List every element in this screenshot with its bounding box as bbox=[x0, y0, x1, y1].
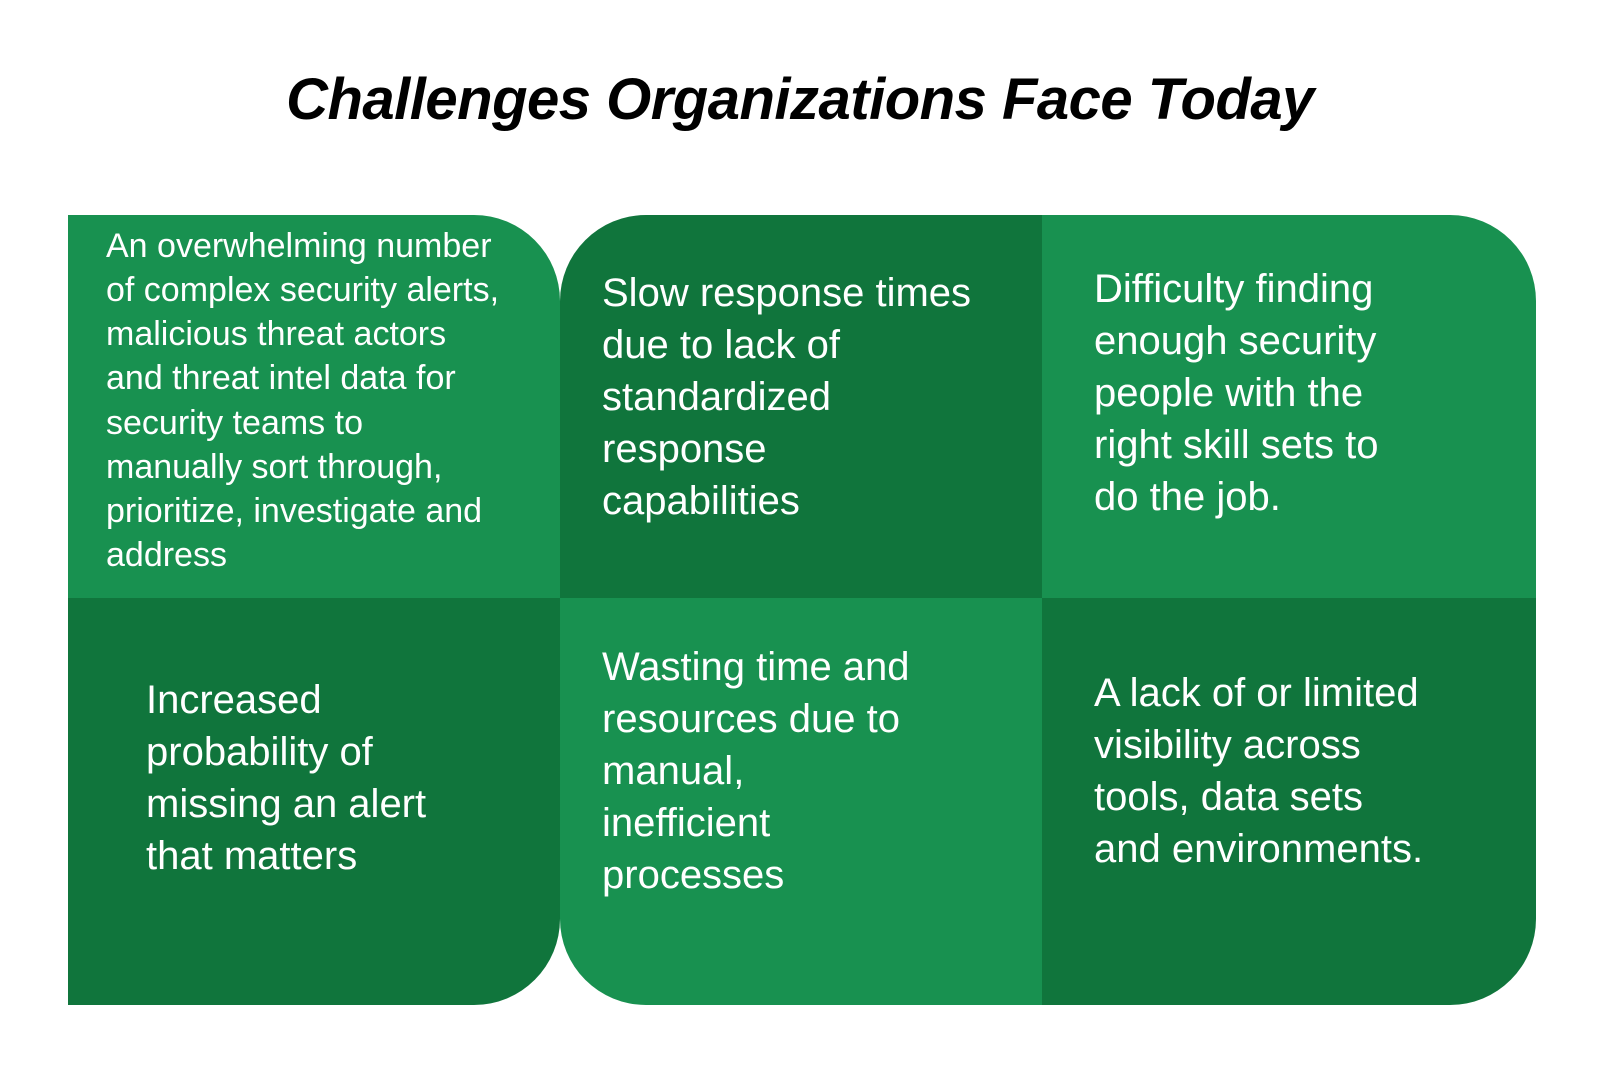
challenge-card-5[interactable]: Wasting time and resources due to manual… bbox=[560, 598, 1042, 1005]
slide-canvas: Challenges Organizations Face Today An o… bbox=[0, 0, 1600, 1088]
challenge-card-2-text: Slow response times due to lack of stand… bbox=[560, 267, 990, 527]
page-title: Challenges Organizations Face Today bbox=[0, 66, 1600, 133]
challenge-card-5-text: Wasting time and resources due to manual… bbox=[560, 641, 940, 901]
challenge-card-6-text: A lack of or limited visibility across t… bbox=[1042, 667, 1442, 875]
challenge-card-3[interactable]: Difficulty finding enough security peopl… bbox=[1042, 215, 1536, 598]
challenge-card-3-text: Difficulty finding enough security peopl… bbox=[1042, 263, 1452, 523]
challenge-card-grid: An overwhelming number of complex securi… bbox=[68, 215, 1536, 1005]
challenge-card-2[interactable]: Slow response times due to lack of stand… bbox=[560, 215, 1042, 598]
challenge-card-1-text: An overwhelming number of complex securi… bbox=[68, 224, 524, 578]
challenge-card-1[interactable]: An overwhelming number of complex securi… bbox=[68, 215, 560, 598]
challenge-card-6[interactable]: A lack of or limited visibility across t… bbox=[1042, 598, 1536, 1005]
challenge-card-4-text: Increased probability of missing an aler… bbox=[68, 674, 494, 882]
challenge-card-4[interactable]: Increased probability of missing an aler… bbox=[68, 598, 560, 1005]
